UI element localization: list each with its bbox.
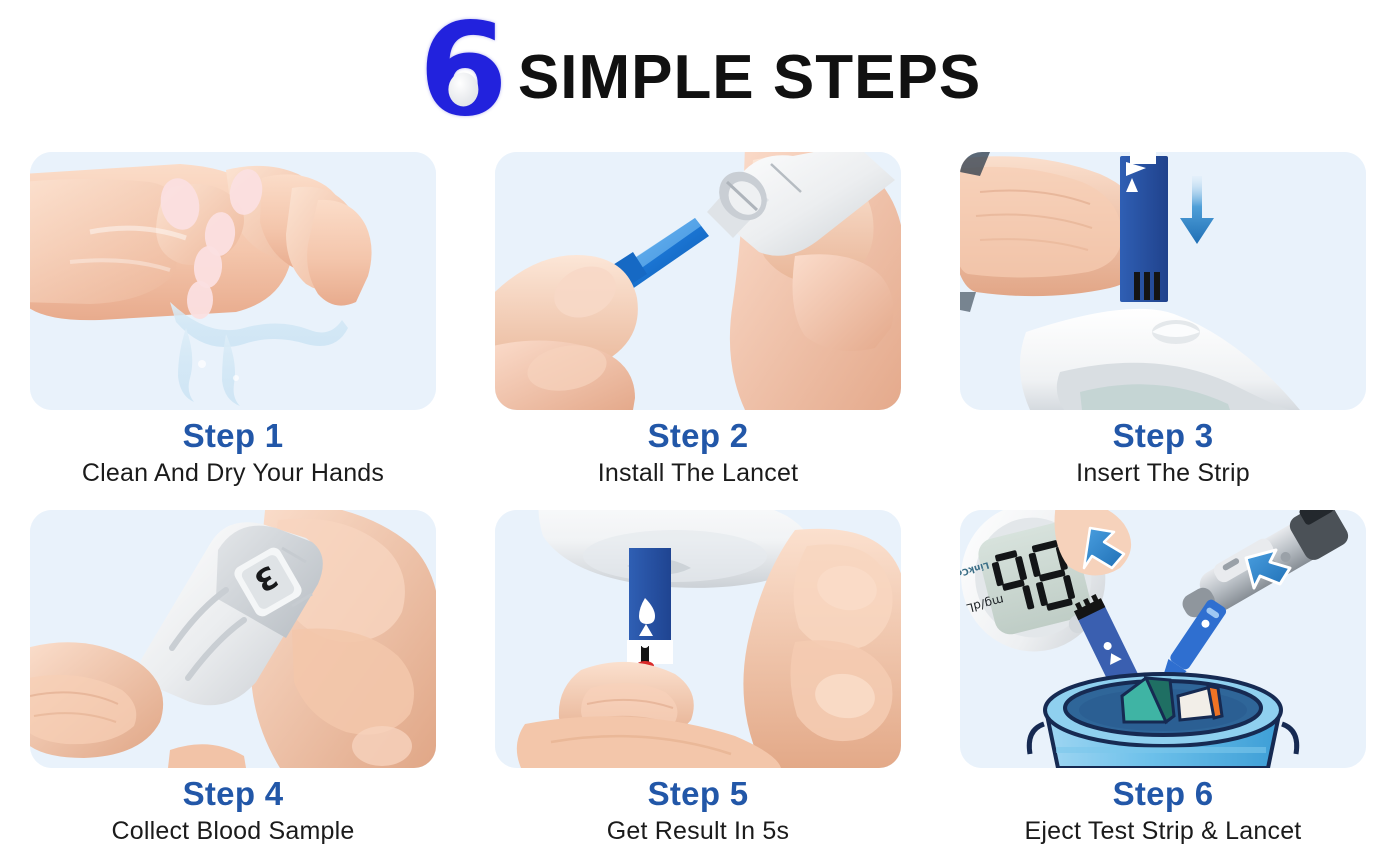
page-title: SIMPLE STEPS [518,42,981,113]
collect-blood-illustration: 3 [30,510,436,768]
get-result-illustration [495,510,901,768]
hands-washing-illustration [30,152,436,410]
eject-strip-lancet-illustration: LinkCo mg/dL [960,510,1366,768]
step-1-caption: Step 1 Clean And Dry Your Hands [30,410,436,488]
page-header: 6 SIMPLE STEPS [0,0,1400,150]
step-2-title: Step 2 [495,417,901,455]
step-card-3[interactable]: Step 3 Insert The Strip [960,152,1366,488]
step-2-caption: Step 2 Install The Lancet [495,410,901,488]
step-card-5[interactable]: Step 5 Get Result In 5s [495,510,901,846]
trash-bin [1029,674,1296,768]
step-card-4[interactable]: 3 Step 4 [30,510,436,846]
step-card-1[interactable]: Step 1 Clean And Dry Your Hands [30,152,436,488]
step-card-2[interactable]: Step 2 Install The Lancet [495,152,901,488]
step-2-image [495,152,901,410]
step-1-image [30,152,436,410]
insert-strip-illustration [960,152,1366,410]
step-3-caption: Step 3 Insert The Strip [960,410,1366,488]
headline-number-text: 6 [419,0,504,145]
poster-root: 6 SIMPLE STEPS [0,0,1400,866]
step-3-title: Step 3 [960,417,1366,455]
step-6-image: LinkCo mg/dL [960,510,1366,768]
step-3-image [960,152,1366,410]
step-6-caption: Step 6 Eject Test Strip & Lancet [960,768,1366,846]
step-4-description: Collect Blood Sample [30,816,436,846]
step-2-description: Install The Lancet [495,458,901,488]
step-1-title: Step 1 [30,417,436,455]
step-4-caption: Step 4 Collect Blood Sample [30,768,436,846]
step-6-title: Step 6 [960,775,1366,813]
step-4-image: 3 [30,510,436,768]
step-5-description: Get Result In 5s [495,816,901,846]
step-3-description: Insert The Strip [960,458,1366,488]
step-5-caption: Step 5 Get Result In 5s [495,768,901,846]
step-5-image [495,510,901,768]
step-6-description: Eject Test Strip & Lancet [960,816,1366,846]
step-card-6[interactable]: LinkCo mg/dL [960,510,1366,846]
install-lancet-illustration [495,152,901,410]
headline-number: 6 [419,7,504,135]
step-5-title: Step 5 [495,775,901,813]
step-4-title: Step 4 [30,775,436,813]
steps-grid: Step 1 Clean And Dry Your Hands [30,152,1370,846]
step-1-description: Clean And Dry Your Hands [30,458,436,488]
